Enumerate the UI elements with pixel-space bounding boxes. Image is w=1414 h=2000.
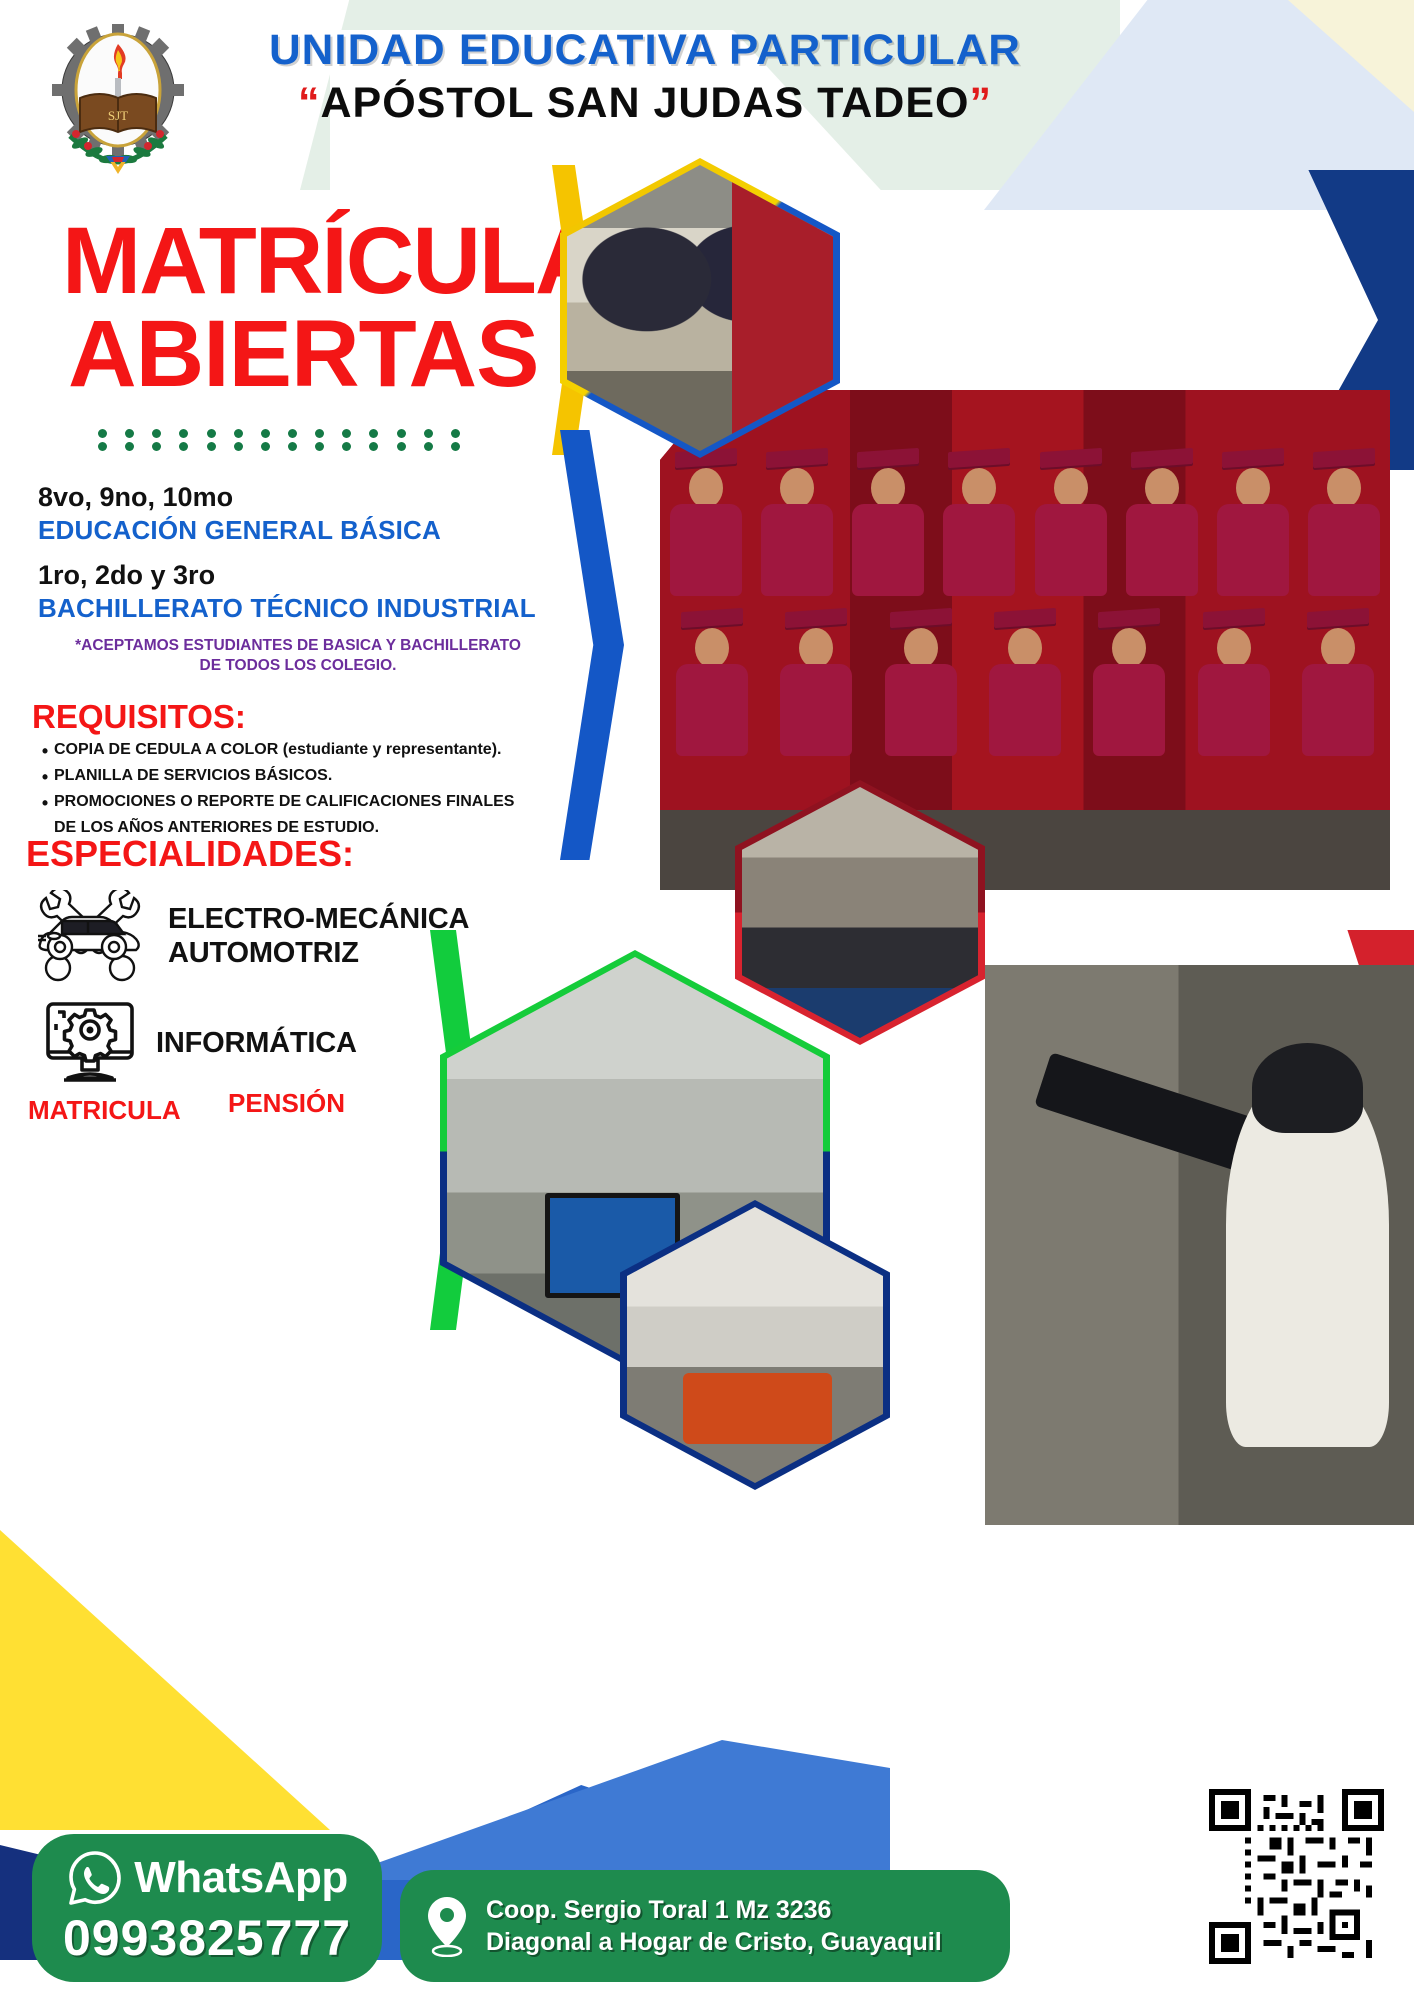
school-name-text: APÓSTOL SAN JUDAS TADEO bbox=[321, 79, 970, 127]
header: UNIDAD EDUCATIVA PARTICULAR “APÓSTOL SAN… bbox=[225, 26, 1065, 128]
especialidad-informatica: INFORMÁTICA bbox=[42, 1000, 357, 1086]
school-crest-logo: SJT bbox=[28, 18, 208, 188]
especialidad-0-line1: ELECTRO-MECÁNICA bbox=[168, 903, 469, 935]
requisito-item: • PLANILLA DE SERVICIOS BÁSICOS. bbox=[36, 764, 576, 790]
poster-root: SJT bbox=[0, 0, 1414, 2000]
computer-gear-icon bbox=[42, 1000, 138, 1086]
bg-shape-yellow bbox=[0, 1530, 330, 1830]
levels-list: 8vo, 9no, 10mo EDUCACIÓN GENERAL BÁSICA … bbox=[38, 480, 558, 626]
address-text: Coop. Sergio Toral 1 Mz 3236 Diagonal a … bbox=[486, 1894, 942, 1959]
bullet-icon: • bbox=[36, 738, 54, 764]
address-line2: Diagonal a Hogar de Cristo, Guayaquil bbox=[486, 1928, 942, 1956]
main-title: MATRÍCULAS ABIERTAS bbox=[62, 218, 532, 401]
svg-text:SJT: SJT bbox=[108, 108, 128, 123]
especialidad-0-line2: AUTOMOTRIZ bbox=[168, 937, 359, 969]
especialidad-electromecanica: ELECTRO-MECÁNICA AUTOMOTRIZ bbox=[30, 890, 469, 982]
bg-shape-blue-lower2 bbox=[330, 1740, 890, 1880]
bullet-icon: • bbox=[36, 764, 54, 790]
location-pin-icon bbox=[424, 1895, 470, 1957]
address-line1: Coop. Sergio Toral 1 Mz 3236 bbox=[486, 1896, 831, 1924]
whatsapp-contact[interactable]: WhatsApp 0993825777 bbox=[32, 1834, 382, 1982]
pension-label: PENSIÓN bbox=[228, 1088, 345, 1119]
school-name-line2: “APÓSTOL SAN JUDAS TADEO” bbox=[225, 79, 1065, 128]
matricula-label: MATRICULA bbox=[28, 1095, 181, 1126]
requisitos-list: • COPIA DE CEDULA A COLOR (estudiante y … bbox=[36, 738, 576, 841]
requisito-text: COPIA DE CEDULA A COLOR (estudiante y re… bbox=[54, 738, 576, 763]
acceptance-note: *ACEPTAMOS ESTUDIANTES DE BASICA Y BACHI… bbox=[38, 636, 558, 677]
level-0-program: EDUCACIÓN GENERAL BÁSICA bbox=[38, 514, 558, 548]
photo-welding bbox=[985, 965, 1414, 1525]
especialidades-heading: ESPECIALIDADES: bbox=[26, 833, 354, 875]
bullet-icon: • bbox=[36, 790, 54, 816]
whatsapp-phone[interactable]: 0993825777 bbox=[63, 1909, 351, 1967]
requisito-text: PLANILLA DE SERVICIOS BÁSICOS. bbox=[54, 764, 576, 789]
especialidad-label: INFORMÁTICA bbox=[156, 1026, 357, 1060]
level-0-grades: 8vo, 9no, 10mo bbox=[38, 480, 558, 514]
photo-science-lab bbox=[560, 158, 840, 458]
dotted-divider bbox=[98, 427, 478, 453]
level-1-program: BACHILLERATO TÉCNICO INDUSTRIAL bbox=[38, 592, 558, 626]
requisito-item: • PROMOCIONES O REPORTE DE CALIFICACIONE… bbox=[36, 790, 576, 816]
quote-open: “ bbox=[298, 79, 321, 127]
especialidad-label: ELECTRO-MECÁNICA AUTOMOTRIZ bbox=[168, 902, 469, 970]
address-contact[interactable]: Coop. Sergio Toral 1 Mz 3236 Diagonal a … bbox=[400, 1870, 1010, 1982]
title-line2: ABIERTAS bbox=[68, 309, 532, 400]
photo-engine-class bbox=[620, 1200, 890, 1490]
acceptance-note-line1: *ACEPTAMOS ESTUDIANTES DE BASICA Y BACHI… bbox=[38, 636, 558, 656]
requisitos-heading: REQUISITOS: bbox=[32, 698, 246, 736]
quote-close: ” bbox=[969, 79, 992, 127]
acceptance-note-line2: DE TODOS LOS COLEGIO. bbox=[38, 656, 558, 676]
car-wrench-icon bbox=[30, 890, 150, 982]
whatsapp-label: WhatsApp bbox=[134, 1853, 348, 1903]
requisito-item: • COPIA DE CEDULA A COLOR (estudiante y … bbox=[36, 738, 576, 764]
whatsapp-icon bbox=[66, 1849, 124, 1907]
requisito-text: PROMOCIONES O REPORTE DE CALIFICACIONES … bbox=[54, 790, 576, 815]
title-line1: MATRÍCULAS bbox=[62, 218, 532, 305]
qr-code[interactable] bbox=[1209, 1789, 1384, 1964]
level-1-grades: 1ro, 2do y 3ro bbox=[38, 558, 558, 592]
especialidad-1-line1: INFORMÁTICA bbox=[156, 1027, 357, 1059]
school-name-line1: UNIDAD EDUCATIVA PARTICULAR bbox=[217, 26, 1074, 75]
